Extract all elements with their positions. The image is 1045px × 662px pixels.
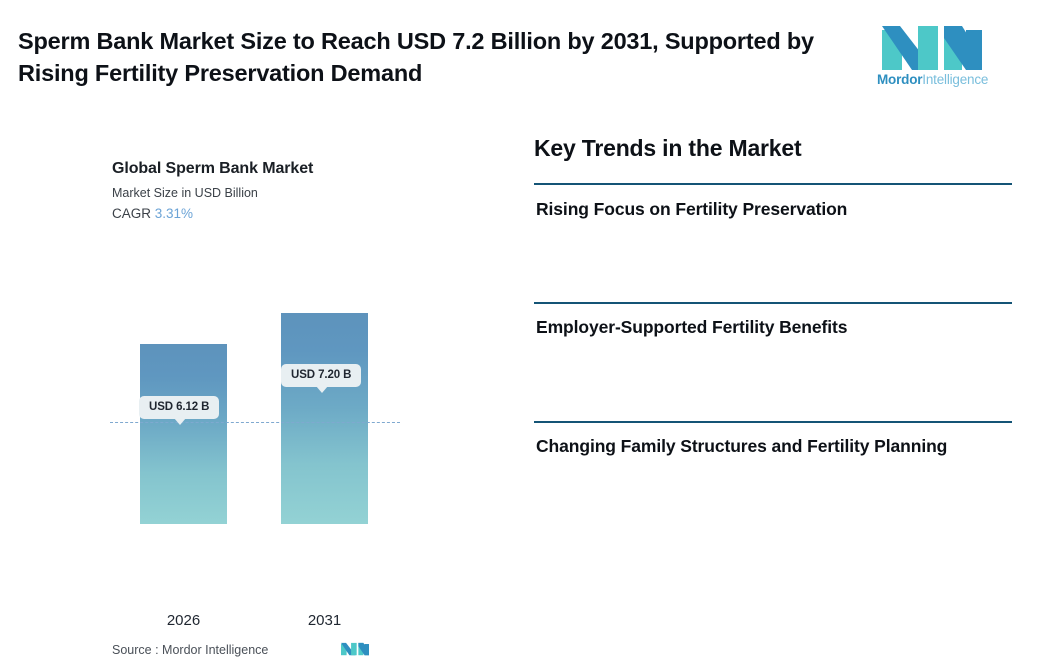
reference-dashed-line — [110, 422, 400, 423]
trend-item-2[interactable]: Employer-Supported Fertility Benefits — [536, 314, 996, 341]
brand-name-light: Intelligence — [922, 72, 988, 87]
mordor-m-logo-icon — [341, 640, 369, 657]
trend-item-3[interactable]: Changing Family Structures and Fertility… — [536, 433, 996, 460]
cagr-label: CAGR — [112, 206, 151, 221]
value-badge-2031: USD 7.20 B — [281, 364, 361, 387]
cagr-value: 3.31% — [155, 206, 193, 221]
trend-divider — [534, 302, 1012, 304]
chart-title: Global Sperm Bank Market — [112, 160, 313, 178]
trend-divider — [534, 183, 1012, 185]
mordor-m-logo-icon — [882, 22, 982, 70]
source-name: Mordor Intelligence — [162, 643, 268, 657]
cagr-row: CAGR 3.31% — [112, 206, 193, 221]
trend-item-1[interactable]: Rising Focus on Fertility Preservation — [536, 196, 996, 223]
value-badge-2026: USD 6.12 B — [139, 396, 219, 419]
bar-2031[interactable] — [281, 313, 368, 524]
x-axis-label-2026: 2026 — [140, 612, 227, 629]
brand-logo: MordorIntelligence — [877, 22, 987, 94]
source-label: Source : — [112, 643, 159, 657]
brand-name-bold: Mordor — [877, 72, 922, 87]
bar-2026[interactable] — [140, 344, 227, 524]
bar-chart-plot — [0, 224, 512, 524]
brand-wordmark: MordorIntelligence — [877, 72, 987, 87]
chart-subtitle: Market Size in USD Billion — [112, 186, 258, 200]
trend-divider — [534, 421, 1012, 423]
page-title: Sperm Bank Market Size to Reach USD 7.2 … — [18, 25, 848, 89]
chart-panel: Global Sperm Bank Market Market Size in … — [0, 112, 512, 582]
page-header: Sperm Bank Market Size to Reach USD 7.2 … — [0, 0, 1045, 112]
source-row: Source : Mordor Intelligence — [112, 643, 268, 657]
trends-heading: Key Trends in the Market — [534, 135, 801, 162]
x-axis-label-2031: 2031 — [281, 612, 368, 629]
